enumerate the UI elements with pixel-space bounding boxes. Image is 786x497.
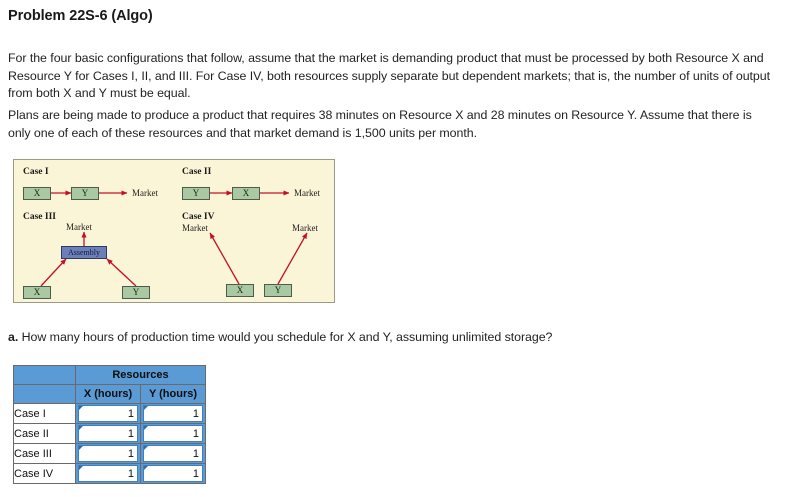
cell-case2-x[interactable]: 1 (76, 424, 141, 444)
node-case3-x: X (23, 286, 51, 299)
case-label-1: Case I (23, 167, 49, 177)
cell-flag-icon (79, 446, 83, 450)
table-header-row: X (hours) Y (hours) (14, 385, 206, 404)
intro-paragraph-1: For the four basic configurations that f… (8, 50, 770, 103)
table-row: Case I 1 1 (14, 404, 206, 424)
table-row: Case IV 1 1 (14, 464, 206, 484)
page-title: Problem 22S-6 (Algo) (8, 8, 153, 24)
cell-flag-icon (79, 426, 83, 430)
input-case3-x[interactable]: 1 (78, 445, 138, 462)
input-case2-y[interactable]: 1 (143, 425, 203, 442)
diagram-arrows (14, 160, 336, 304)
cell-case4-y[interactable]: 1 (141, 464, 206, 484)
market-label-case2: Market (294, 188, 320, 198)
case-label-2: Case II (182, 167, 211, 177)
node-case4-y: Y (264, 284, 292, 297)
header-x-hours: X (hours) (76, 385, 141, 404)
case-label-4: Case IV (182, 212, 214, 222)
table-row: Case II 1 1 (14, 424, 206, 444)
node-case3-assembly: Assembly (61, 246, 107, 259)
cell-flag-icon (144, 446, 148, 450)
node-case2-y: Y (182, 187, 210, 200)
header-resources: Resources (76, 366, 206, 385)
node-case4-x: X (226, 284, 254, 297)
input-case1-y[interactable]: 1 (143, 405, 203, 422)
cell-case3-y[interactable]: 1 (141, 444, 206, 464)
cell-case2-y[interactable]: 1 (141, 424, 206, 444)
cell-case3-x[interactable]: 1 (76, 444, 141, 464)
question-a: a. How many hours of production time wou… (8, 329, 552, 346)
cell-case4-x[interactable]: 1 (76, 464, 141, 484)
node-case2-x: X (232, 187, 260, 200)
cell-case1-x[interactable]: 1 (76, 404, 141, 424)
intro-paragraph-2: Plans are being made to produce a produc… (8, 107, 770, 142)
cell-case1-y[interactable]: 1 (141, 404, 206, 424)
table-header-group-row: Resources (14, 366, 206, 385)
header-y-hours: Y (hours) (141, 385, 206, 404)
case-label-3: Case III (23, 212, 56, 222)
header-corner-blank (14, 366, 76, 385)
node-case3-y: Y (122, 286, 150, 299)
input-case2-x[interactable]: 1 (78, 425, 138, 442)
question-text: How many hours of production time would … (22, 330, 553, 344)
cell-flag-icon (144, 406, 148, 410)
question-letter: a. (8, 330, 18, 344)
row-label-case-3: Case III (14, 444, 76, 464)
cell-flag-icon (79, 466, 83, 470)
input-case4-y[interactable]: 1 (143, 465, 203, 482)
row-label-case-4: Case IV (14, 464, 76, 484)
cell-flag-icon (79, 406, 83, 410)
table-row: Case III 1 1 (14, 444, 206, 464)
input-case1-x[interactable]: 1 (78, 405, 138, 422)
cell-flag-icon (144, 466, 148, 470)
market-label-case1: Market (132, 188, 158, 198)
node-case1-x: X (23, 187, 51, 200)
row-label-case-2: Case II (14, 424, 76, 444)
header-case-blank (14, 385, 76, 404)
answer-table: Resources X (hours) Y (hours) Case I 1 1… (13, 365, 206, 484)
configuration-diagram: Case I X Y Market Case II Y X Market Cas… (13, 159, 335, 303)
node-case1-y: Y (71, 187, 99, 200)
market-label-case4-right: Market (292, 223, 318, 233)
input-case3-y[interactable]: 1 (143, 445, 203, 462)
market-label-case3: Market (66, 222, 92, 232)
cell-flag-icon (144, 426, 148, 430)
row-label-case-1: Case I (14, 404, 76, 424)
input-case4-x[interactable]: 1 (78, 465, 138, 482)
market-label-case4-left: Market (182, 223, 208, 233)
